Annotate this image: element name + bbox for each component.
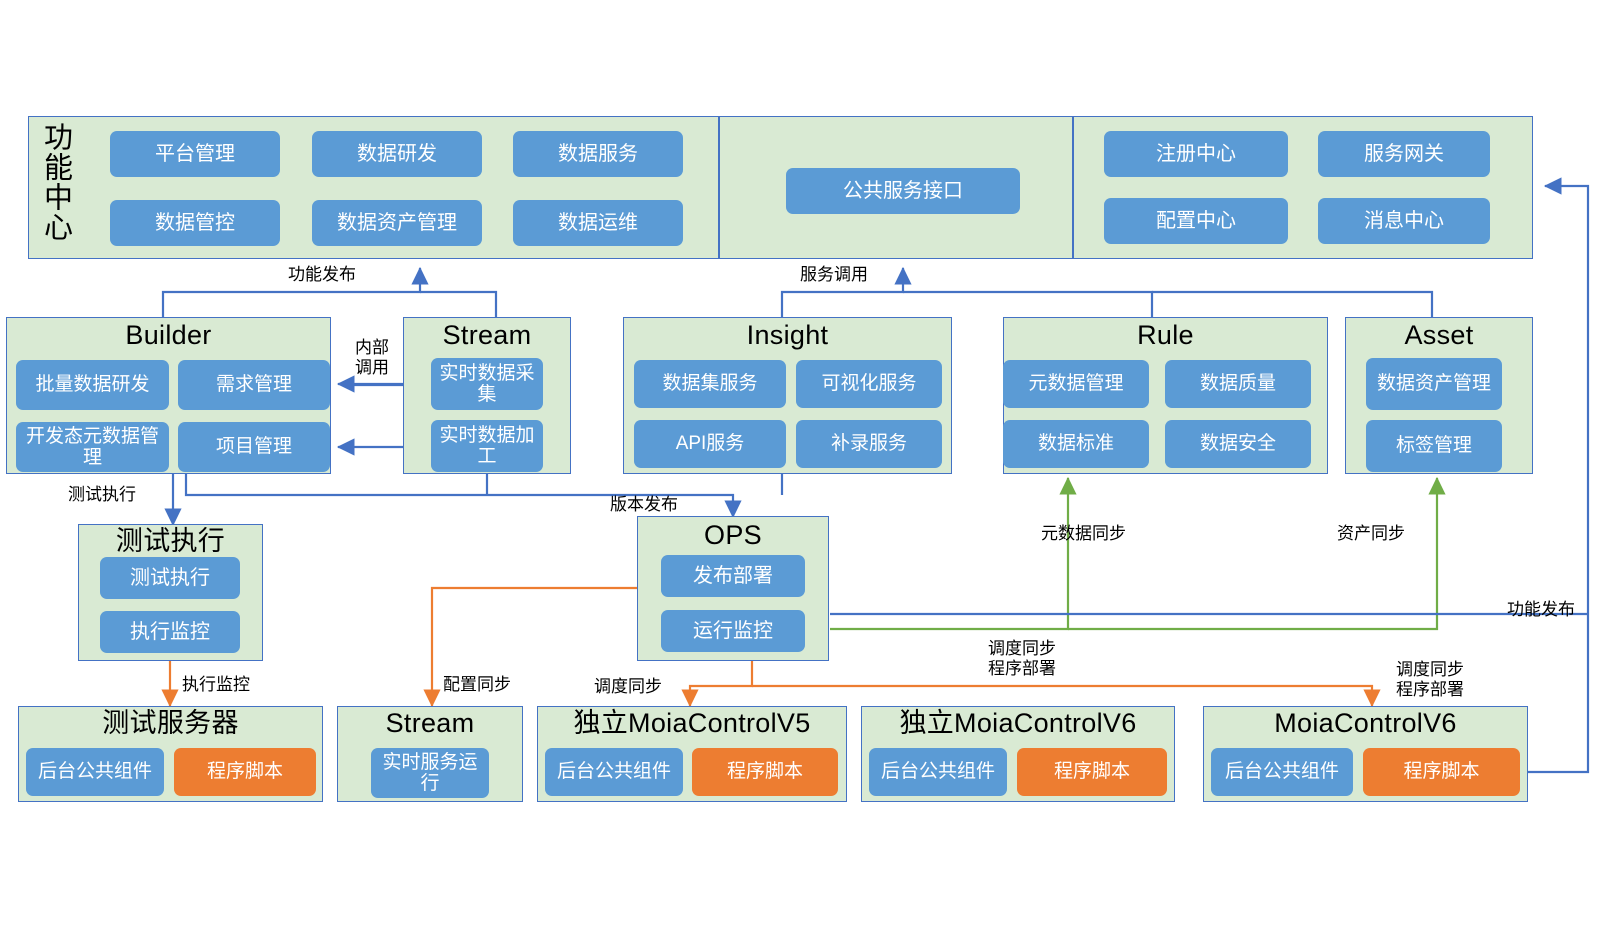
rule-chip-metadata-mgmt[interactable]: 元数据管理 — [1003, 360, 1149, 408]
insight-chip-visualization-service[interactable]: 可视化服务 — [796, 360, 942, 408]
test-server-chip-backend-common[interactable]: 后台公共组件 — [26, 748, 164, 796]
fc-chip-platform-mgmt[interactable]: 平台管理 — [110, 131, 280, 177]
builder-chip-dev-metadata-mgmt[interactable]: 开发态元数据管理 — [16, 422, 169, 472]
builder-chip-project-mgmt[interactable]: 项目管理 — [178, 422, 330, 472]
panel-moiacontrolv6-standalone-title: 独立MoiaControlV6 — [861, 710, 1175, 737]
test-server-chip-script[interactable]: 程序脚本 — [174, 748, 316, 796]
fc-chip-registry-center[interactable]: 注册中心 — [1104, 131, 1288, 177]
function-center-divider-2 — [1072, 116, 1074, 259]
panel-moiacontrolv5-title: 独立MoiaControlV5 — [537, 710, 847, 737]
edge-label-feature-publish-top: 功能发布 — [288, 265, 356, 285]
panel-test-server-title: 测试服务器 — [18, 710, 323, 737]
moiav5-chip-script[interactable]: 程序脚本 — [692, 748, 838, 796]
edge-label-schedule-sync-deploy-right: 调度同步 程序部署 — [1370, 660, 1490, 701]
fc-chip-data-ops[interactable]: 数据运维 — [513, 200, 683, 246]
moiav5-chip-backend-common[interactable]: 后台公共组件 — [545, 748, 683, 796]
rule-chip-data-standard[interactable]: 数据标准 — [1003, 420, 1149, 468]
insight-chip-backfill-service[interactable]: 补录服务 — [796, 420, 942, 468]
stream-server-chip-realtime-run[interactable]: 实时服务运行 — [371, 748, 489, 798]
test-exec-chip-exec-monitor[interactable]: 执行监控 — [100, 611, 240, 653]
builder-chip-requirement-mgmt[interactable]: 需求管理 — [178, 360, 330, 410]
panel-ops-title: OPS — [637, 522, 829, 549]
panel-rule-title: Rule — [1003, 322, 1328, 349]
panel-test-execution-title: 测试执行 — [78, 528, 263, 555]
fc-chip-service-gateway[interactable]: 服务网关 — [1318, 131, 1490, 177]
edge-label-service-call: 服务调用 — [800, 265, 868, 285]
moiav6s-chip-script[interactable]: 程序脚本 — [1017, 748, 1167, 796]
edge-label-version-publish: 版本发布 — [610, 495, 678, 515]
edge-label-asset-sync: 资产同步 — [1337, 524, 1405, 544]
function-center-divider-1 — [718, 116, 720, 259]
ops-chip-publish-deploy[interactable]: 发布部署 — [661, 555, 805, 597]
panel-asset-title: Asset — [1345, 322, 1533, 349]
rule-chip-data-quality[interactable]: 数据质量 — [1165, 360, 1311, 408]
test-exec-chip-test-execute[interactable]: 测试执行 — [100, 557, 240, 599]
edge-label-config-sync: 配置同步 — [443, 675, 511, 695]
fc-chip-public-service-api[interactable]: 公共服务接口 — [786, 168, 1020, 214]
panel-insight-title: Insight — [623, 322, 952, 349]
edge-label-metadata-sync: 元数据同步 — [1041, 524, 1126, 544]
stream-chip-realtime-process[interactable]: 实时数据加工 — [431, 420, 543, 472]
edge-label-schedule-sync: 调度同步 — [594, 677, 662, 697]
moiav6-chip-script[interactable]: 程序脚本 — [1363, 748, 1520, 796]
builder-chip-batch-data-dev[interactable]: 批量数据研发 — [16, 360, 169, 410]
panel-stream-server-title: Stream — [337, 710, 523, 737]
edge-label-feature-publish-right: 功能发布 — [1410, 600, 1575, 620]
function-center-title: 功能中心 — [40, 122, 70, 252]
edge-label-schedule-sync-deploy-mid: 调度同步 程序部署 — [962, 639, 1082, 680]
moiav6s-chip-backend-common[interactable]: 后台公共组件 — [869, 748, 1007, 796]
fc-chip-data-dev[interactable]: 数据研发 — [312, 131, 482, 177]
panel-builder-title: Builder — [6, 322, 331, 349]
asset-chip-data-asset-mgmt[interactable]: 数据资产管理 — [1366, 358, 1502, 410]
panel-stream-title: Stream — [403, 322, 571, 349]
panel-moiacontrolv6-title: MoiaControlV6 — [1203, 710, 1528, 737]
edge-label-test-execute: 测试执行 — [68, 485, 136, 505]
fc-chip-data-asset-mgmt[interactable]: 数据资产管理 — [312, 200, 482, 246]
fc-chip-message-center[interactable]: 消息中心 — [1318, 198, 1490, 244]
ops-chip-run-monitor[interactable]: 运行监控 — [661, 610, 805, 652]
fc-chip-config-center[interactable]: 配置中心 — [1104, 198, 1288, 244]
insight-chip-api-service[interactable]: API服务 — [634, 420, 786, 468]
insight-chip-dataset-service[interactable]: 数据集服务 — [634, 360, 786, 408]
asset-chip-tag-mgmt[interactable]: 标签管理 — [1366, 420, 1502, 472]
rule-chip-data-security[interactable]: 数据安全 — [1165, 420, 1311, 468]
fc-chip-data-service[interactable]: 数据服务 — [513, 131, 683, 177]
moiav6-chip-backend-common[interactable]: 后台公共组件 — [1211, 748, 1353, 796]
edge-label-exec-monitor: 执行监控 — [182, 675, 250, 695]
stream-chip-realtime-collect[interactable]: 实时数据采集 — [431, 358, 543, 410]
edge-label-internal-call: 内部 调用 — [340, 338, 404, 379]
fc-chip-data-control[interactable]: 数据管控 — [110, 200, 280, 246]
architecture-diagram: 功能中心 平台管理 数据研发 数据服务 数据管控 数据资产管理 数据运维 公共服… — [0, 0, 1611, 940]
